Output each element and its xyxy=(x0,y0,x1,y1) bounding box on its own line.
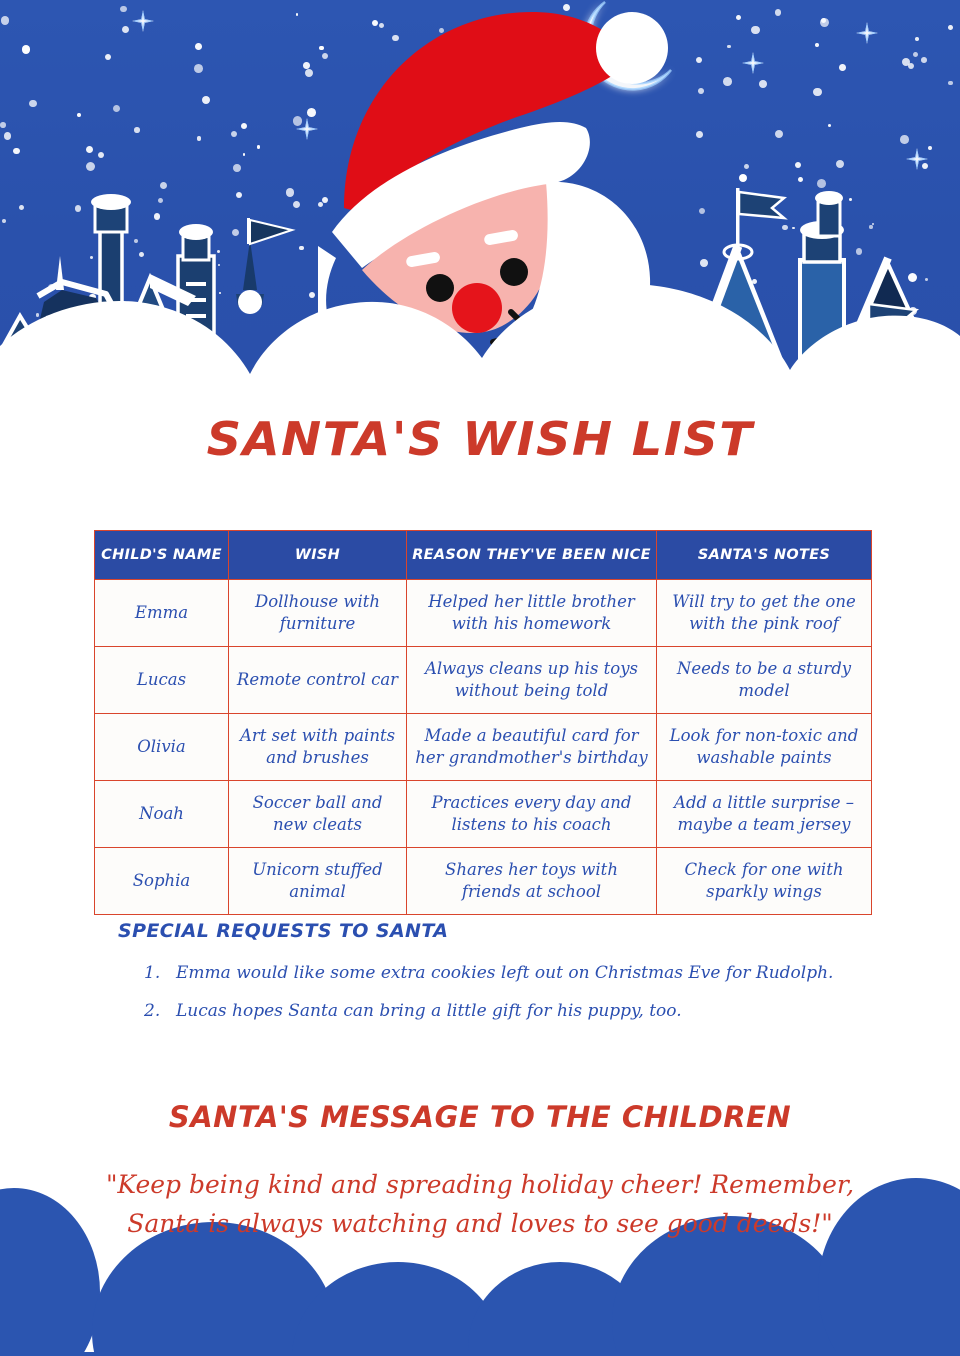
sparkle-star-icon xyxy=(856,22,878,44)
cell-santas-notes: Add a little surprise – maybe a team jer… xyxy=(657,781,872,848)
cell-child-name: Noah xyxy=(95,781,229,848)
cell-wish: Dollhouse with furniture xyxy=(229,580,407,647)
list-item-text: Lucas hopes Santa can bring a little gif… xyxy=(176,1001,682,1021)
cell-santas-notes: Look for non-toxic and washable paints xyxy=(657,714,872,781)
star-icon xyxy=(727,45,730,48)
cell-wish: Soccer ball and new cleats xyxy=(229,781,407,848)
page-title-wrap: SANTA'S WISH LIST xyxy=(0,412,960,466)
list-item-number: 1. xyxy=(144,962,160,984)
star-icon xyxy=(948,25,953,30)
star-icon xyxy=(303,62,310,69)
cell-child-name: Olivia xyxy=(95,714,229,781)
cell-wish: Remote control car xyxy=(229,647,407,714)
star-icon xyxy=(723,77,732,86)
santa-message-body: "Keep being kind and spreading holiday c… xyxy=(100,1166,860,1244)
page-title: SANTA'S WISH LIST xyxy=(0,412,960,466)
special-requests-heading: SPECIAL REQUESTS TO SANTA xyxy=(118,920,918,942)
table-row: Noah Soccer ball and new cleats Practice… xyxy=(95,781,872,848)
sparkle-star-icon xyxy=(742,52,764,74)
wish-list-table: CHILD'S NAME WISH REASON THEY'VE BEEN NI… xyxy=(94,530,872,915)
list-item: 2. Lucas hopes Santa can bring a little … xyxy=(118,1000,918,1022)
star-icon xyxy=(921,57,927,63)
star-icon xyxy=(913,52,918,57)
cell-child-name: Lucas xyxy=(95,647,229,714)
special-requests-section: SPECIAL REQUESTS TO SANTA 1. Emma would … xyxy=(118,920,918,1038)
table-row: Sophia Unicorn stuffed animal Shares her… xyxy=(95,848,872,915)
cell-wish: Unicorn stuffed animal xyxy=(229,848,407,915)
star-icon xyxy=(296,13,299,16)
star-icon xyxy=(134,127,139,132)
star-icon xyxy=(29,100,37,108)
star-icon xyxy=(86,146,93,153)
cell-santas-notes: Will try to get the one with the pink ro… xyxy=(657,580,872,647)
star-icon xyxy=(243,153,245,155)
cell-reason: Helped her little brother with his homew… xyxy=(407,580,657,647)
cell-child-name: Sophia xyxy=(95,848,229,915)
list-item-number: 2. xyxy=(144,1000,160,1022)
cell-santas-notes: Check for one with sparkly wings xyxy=(657,848,872,915)
cell-reason: Made a beautiful card for her grandmothe… xyxy=(407,714,657,781)
star-icon xyxy=(4,132,12,140)
star-icon xyxy=(775,9,782,16)
santa-message-section: SANTA'S MESSAGE TO THE CHILDREN "Keep be… xyxy=(0,1100,960,1244)
cell-santas-notes: Needs to be a sturdy model xyxy=(657,647,872,714)
column-header-santas-notes: SANTA'S NOTES xyxy=(657,531,872,580)
list-item-text: Emma would like some extra cookies left … xyxy=(176,963,833,983)
table-header-row: CHILD'S NAME WISH REASON THEY'VE BEEN NI… xyxy=(95,531,872,580)
table-row: Lucas Remote control car Always cleans u… xyxy=(95,647,872,714)
list-item: 1. Emma would like some extra cookies le… xyxy=(118,962,918,984)
cell-wish: Art set with paints and brushes xyxy=(229,714,407,781)
star-icon xyxy=(759,80,767,88)
star-icon xyxy=(194,64,203,73)
table-row: Olivia Art set with paints and brushes M… xyxy=(95,714,872,781)
star-icon xyxy=(815,43,819,47)
sparkle-star-icon xyxy=(132,10,154,32)
cell-reason: Practices every day and listens to his c… xyxy=(407,781,657,848)
header-illustration xyxy=(0,0,960,430)
star-icon xyxy=(257,145,260,148)
santa-message-heading: SANTA'S MESSAGE TO THE CHILDREN xyxy=(0,1100,960,1134)
star-icon xyxy=(948,81,953,86)
snow-hills xyxy=(0,250,960,430)
cell-reason: Always cleans up his toys without being … xyxy=(407,647,657,714)
column-header-child-name: CHILD'S NAME xyxy=(95,531,229,580)
column-header-wish: WISH xyxy=(229,531,407,580)
cell-reason: Shares her toys with friends at school xyxy=(407,848,657,915)
cell-child-name: Emma xyxy=(95,580,229,647)
star-icon xyxy=(0,122,6,128)
column-header-reason: REASON THEY'VE BEEN NICE xyxy=(407,531,657,580)
table-row: Emma Dollhouse with furniture Helped her… xyxy=(95,580,872,647)
sparkle-star-icon xyxy=(296,118,318,140)
special-requests-list: 1. Emma would like some extra cookies le… xyxy=(118,962,918,1022)
star-icon xyxy=(307,108,316,117)
star-icon xyxy=(120,6,126,12)
star-icon xyxy=(839,64,846,71)
